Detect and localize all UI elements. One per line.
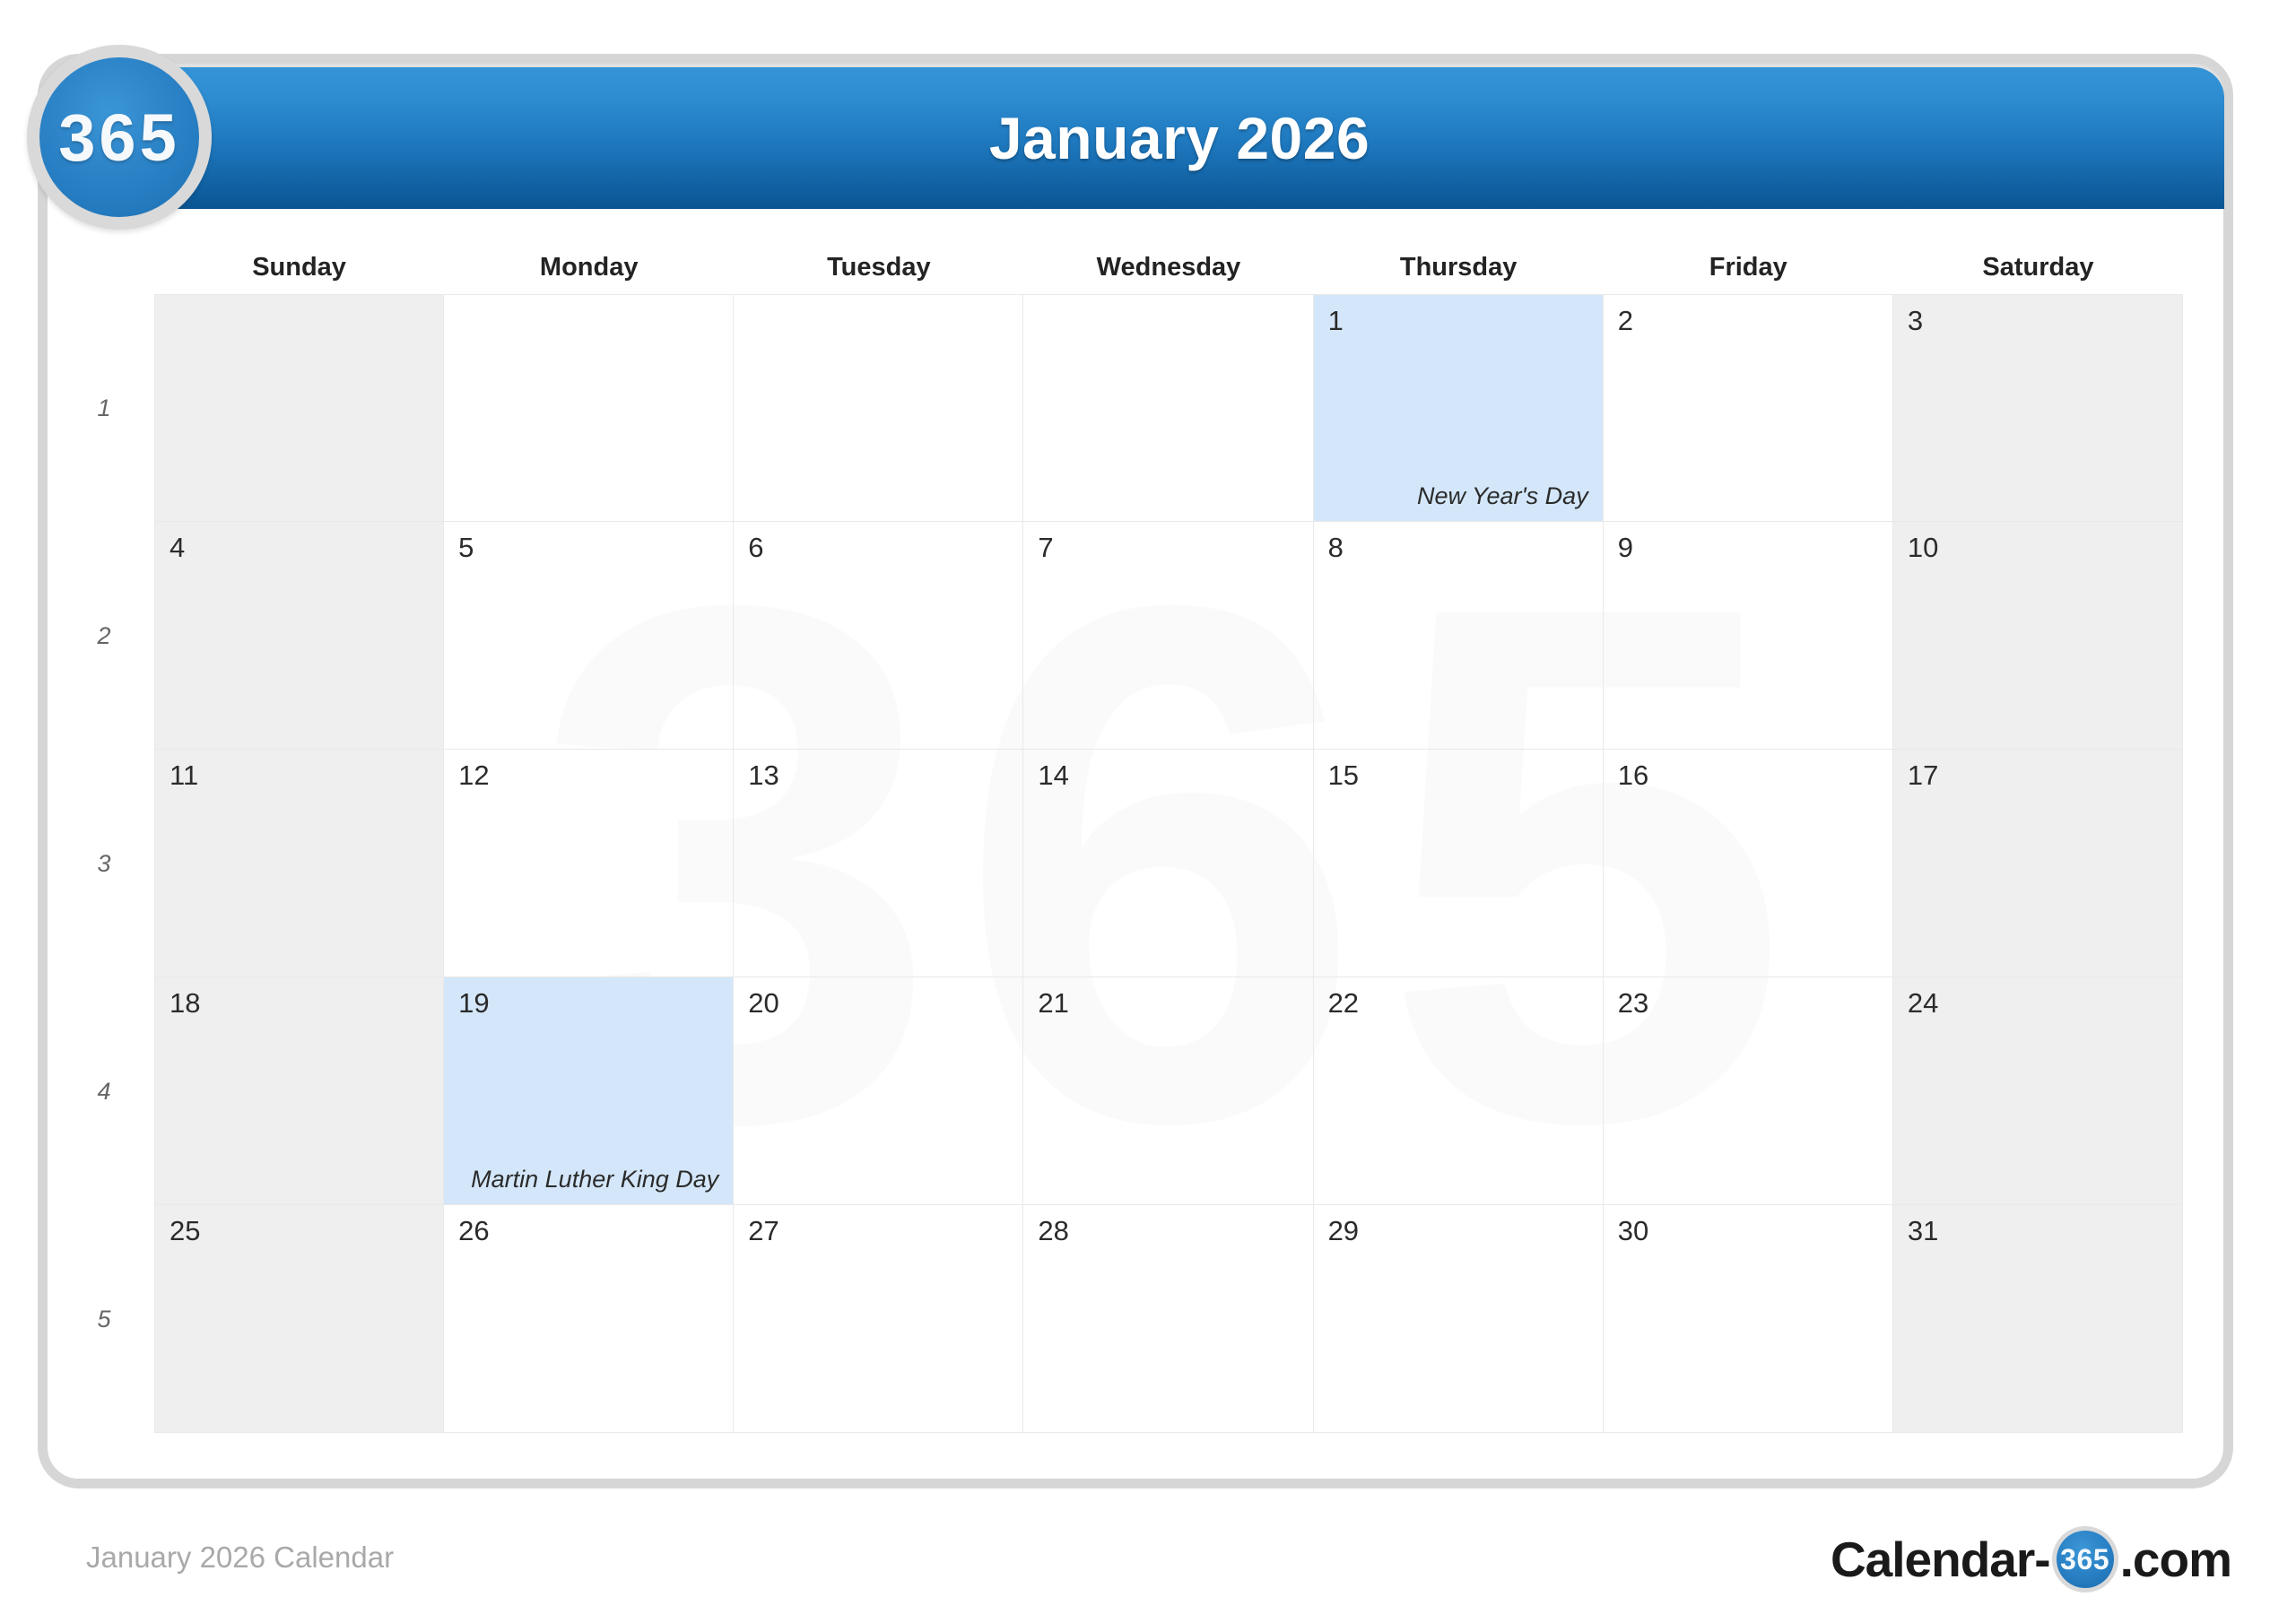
day-cell[interactable]: 31 bbox=[1893, 1205, 2183, 1433]
day-number: 24 bbox=[1908, 988, 2168, 1019]
day-cell[interactable]: 10 bbox=[1893, 522, 2183, 750]
day-cell[interactable]: 2 bbox=[1604, 294, 1893, 522]
brand-logo-label: 365 bbox=[58, 100, 179, 176]
footer-caption: January 2026 Calendar bbox=[86, 1541, 394, 1575]
footer-logo-365-icon: 365 bbox=[2052, 1526, 2118, 1593]
weekday-header-friday: Friday bbox=[1604, 249, 1893, 294]
day-cell[interactable]: 24 bbox=[1893, 977, 2183, 1205]
day-cell[interactable]: 22 bbox=[1314, 977, 1604, 1205]
day-number: 26 bbox=[458, 1216, 718, 1246]
day-cell[interactable]: 25 bbox=[154, 1205, 444, 1433]
day-cell[interactable]: 17 bbox=[1893, 750, 2183, 977]
page-title: January 2026 bbox=[135, 104, 2224, 172]
day-number: 2 bbox=[1618, 306, 1878, 336]
day-cell[interactable] bbox=[154, 294, 444, 522]
day-number: 7 bbox=[1038, 533, 1298, 563]
day-number: 29 bbox=[1328, 1216, 1588, 1246]
footer-logo-prefix: Calendar- bbox=[1831, 1535, 2050, 1584]
day-cell[interactable]: 6 bbox=[734, 522, 1023, 750]
day-number: 3 bbox=[1908, 306, 2168, 336]
weekday-header-row: Sunday Monday Tuesday Wednesday Thursday… bbox=[154, 249, 2183, 294]
day-cell[interactable]: 15 bbox=[1314, 750, 1604, 977]
weekday-header-saturday: Saturday bbox=[1893, 249, 2183, 294]
day-number: 10 bbox=[1908, 533, 2168, 563]
day-number: 23 bbox=[1618, 988, 1878, 1019]
week-number-column: 1 2 3 4 5 bbox=[54, 294, 154, 1433]
day-number: 9 bbox=[1618, 533, 1878, 563]
week-number: 4 bbox=[54, 977, 154, 1205]
calendar-grid-wrap: 365 1New Year's Day234567891011121314151… bbox=[154, 294, 2183, 1433]
footer-logo-circle: 365 bbox=[2057, 1531, 2114, 1588]
calendar-grid: 1New Year's Day2345678910111213141516171… bbox=[154, 294, 2183, 1433]
day-cell[interactable]: 4 bbox=[154, 522, 444, 750]
day-number: 25 bbox=[170, 1216, 429, 1246]
day-cell[interactable]: 9 bbox=[1604, 522, 1893, 750]
day-number: 1 bbox=[1328, 306, 1588, 336]
day-cell[interactable]: 29 bbox=[1314, 1205, 1604, 1433]
day-number: 8 bbox=[1328, 533, 1588, 563]
day-cell[interactable]: 21 bbox=[1023, 977, 1313, 1205]
weekday-header-tuesday: Tuesday bbox=[734, 249, 1023, 294]
weekday-header-monday: Monday bbox=[444, 249, 734, 294]
day-cell[interactable]: 27 bbox=[734, 1205, 1023, 1433]
footer-brand-logo[interactable]: Calendar- 365 .com bbox=[1831, 1524, 2231, 1594]
weekday-header-sunday: Sunday bbox=[154, 249, 444, 294]
day-cell[interactable]: 13 bbox=[734, 750, 1023, 977]
day-cell[interactable]: 7 bbox=[1023, 522, 1313, 750]
day-cell[interactable] bbox=[444, 294, 734, 522]
calendar-header-bar: January 2026 bbox=[135, 67, 2224, 209]
day-cell[interactable]: 26 bbox=[444, 1205, 734, 1433]
day-number: 5 bbox=[458, 533, 718, 563]
brand-logo-circle: 365 bbox=[39, 57, 199, 217]
day-cell[interactable]: 19Martin Luther King Day bbox=[444, 977, 734, 1205]
day-number: 13 bbox=[748, 760, 1008, 791]
day-cell[interactable]: 11 bbox=[154, 750, 444, 977]
day-cell[interactable]: 18 bbox=[154, 977, 444, 1205]
holiday-label: New Year's Day bbox=[1417, 482, 1588, 510]
week-number: 2 bbox=[54, 522, 154, 750]
day-number: 30 bbox=[1618, 1216, 1878, 1246]
day-number: 27 bbox=[748, 1216, 1008, 1246]
day-cell[interactable]: 3 bbox=[1893, 294, 2183, 522]
day-cell[interactable]: 12 bbox=[444, 750, 734, 977]
day-cell[interactable]: 20 bbox=[734, 977, 1023, 1205]
day-cell[interactable]: 8 bbox=[1314, 522, 1604, 750]
day-number: 15 bbox=[1328, 760, 1588, 791]
day-cell[interactable] bbox=[734, 294, 1023, 522]
footer-logo-suffix: .com bbox=[2120, 1535, 2231, 1584]
day-number: 20 bbox=[748, 988, 1008, 1019]
day-number: 18 bbox=[170, 988, 429, 1019]
day-cell[interactable]: 23 bbox=[1604, 977, 1893, 1205]
day-number: 17 bbox=[1908, 760, 2168, 791]
day-cell[interactable]: 28 bbox=[1023, 1205, 1313, 1433]
day-cell[interactable]: 14 bbox=[1023, 750, 1313, 977]
calendar-page: January 2026 365 Sunday Monday Tuesday W… bbox=[0, 0, 2296, 1623]
weekday-header-wednesday: Wednesday bbox=[1023, 249, 1313, 294]
day-number: 21 bbox=[1038, 988, 1298, 1019]
day-cell[interactable]: 16 bbox=[1604, 750, 1893, 977]
day-cell[interactable]: 1New Year's Day bbox=[1314, 294, 1604, 522]
day-number: 19 bbox=[458, 988, 718, 1019]
day-number: 28 bbox=[1038, 1216, 1298, 1246]
day-number: 4 bbox=[170, 533, 429, 563]
day-number: 22 bbox=[1328, 988, 1588, 1019]
week-number: 3 bbox=[54, 750, 154, 977]
holiday-label: Martin Luther King Day bbox=[471, 1166, 718, 1193]
brand-logo-365-icon[interactable]: 365 bbox=[27, 45, 212, 230]
day-number: 6 bbox=[748, 533, 1008, 563]
day-number: 31 bbox=[1908, 1216, 2168, 1246]
day-cell[interactable]: 30 bbox=[1604, 1205, 1893, 1433]
week-number: 1 bbox=[54, 294, 154, 522]
day-cell[interactable] bbox=[1023, 294, 1313, 522]
week-number: 5 bbox=[54, 1205, 154, 1433]
day-number: 12 bbox=[458, 760, 718, 791]
weekday-header-thursday: Thursday bbox=[1314, 249, 1604, 294]
footer-logo-badge-label: 365 bbox=[2060, 1543, 2109, 1576]
day-number: 16 bbox=[1618, 760, 1878, 791]
day-cell[interactable]: 5 bbox=[444, 522, 734, 750]
day-number: 11 bbox=[170, 760, 429, 791]
day-number: 14 bbox=[1038, 760, 1298, 791]
